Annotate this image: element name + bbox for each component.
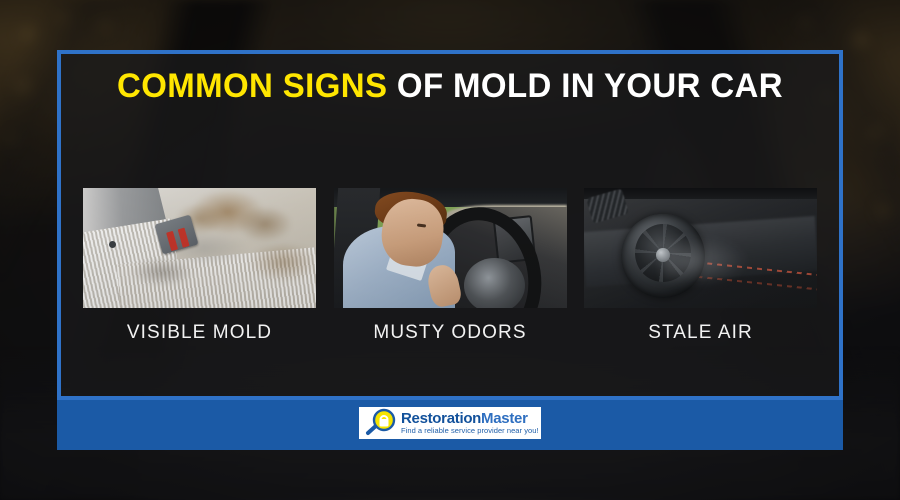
stale-air-mist [663,231,798,305]
photo-panel-musty-odors [334,188,567,308]
title-rest: OF MOLD IN YOUR CAR [387,67,783,105]
panel-row [83,188,817,308]
logo-word-restoration: Restoration [401,410,481,427]
caption-row: VISIBLE MOLD MUSTY ODORS STALE AIR [83,322,817,344]
page-title: COMMON SIGNS OF MOLD IN YOUR CAR [91,66,809,106]
steering-wheel-hub [464,258,525,308]
caption-musty-odors: MUSTY ODORS [334,322,567,344]
logo-wordmark: RestorationMaster [401,411,539,427]
photo-panel-visible-mold [83,188,316,308]
caption-stale-air: STALE AIR [584,322,817,344]
photo-panel-stale-air [584,188,817,308]
seat-grommet-icon [109,241,116,248]
title-highlight: COMMON SIGNS [117,67,387,105]
logo-word-master: Master [481,410,528,427]
mold-stain-overlay [83,188,316,308]
logo-tagline: Find a reliable service provider near yo… [401,427,539,435]
brand-logo[interactable]: RestorationMaster Find a reliable servic… [356,404,544,442]
caption-visible-mold: VISIBLE MOLD [83,322,316,344]
logo-text-block: RestorationMaster Find a reliable servic… [401,411,539,436]
infographic-canvas: COMMON SIGNS OF MOLD IN YOUR CAR [0,0,900,500]
magnifying-glass-lock-icon [364,408,398,438]
